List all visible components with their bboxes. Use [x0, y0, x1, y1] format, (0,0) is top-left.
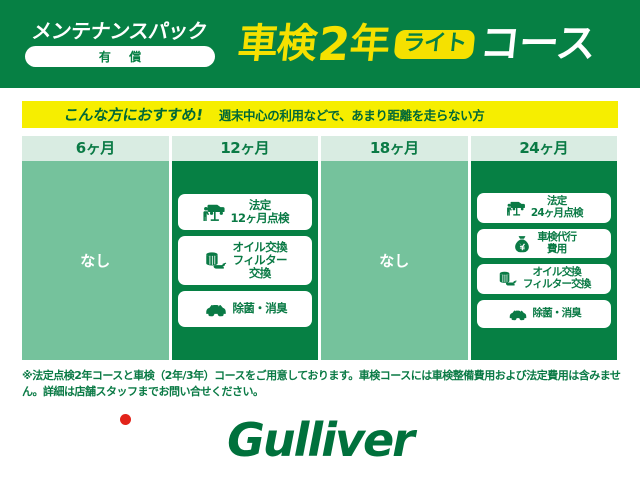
paid-badge: 有 償 [25, 46, 215, 67]
year-unit-label: 年 [348, 24, 391, 64]
recommendation-lead: こんな方におすすめ! [63, 104, 205, 125]
header-banner: メンテナンスパック 有 償 車検 2 年 ライト コース [0, 0, 640, 88]
column-header: 12ヶ月 [172, 136, 319, 161]
column-body: 法定 24ヶ月点検車検代行 費用オイル交換 フィルター交換除菌・消臭 [471, 161, 618, 360]
service-item-label: 車検代行 費用 [537, 232, 576, 256]
service-item-label: 法定 24ヶ月点検 [531, 196, 583, 220]
oil-filter-change-icon [497, 268, 519, 290]
none-label: なし [379, 250, 409, 271]
service-item-label: 除菌・消臭 [533, 308, 582, 320]
column-header-label: 18ヶ月 [370, 141, 419, 156]
car-lift-inspection-icon [505, 197, 527, 219]
column-header: 18ヶ月 [321, 136, 468, 161]
money-bag-yen-icon [511, 233, 533, 255]
light-badge: ライト [393, 30, 475, 59]
column-header-label: 6ヶ月 [76, 141, 115, 156]
logo-i-dot [120, 414, 131, 425]
column-header: 24ヶ月 [471, 136, 618, 161]
coverage-column-18ヶ月: 18ヶ月なし [321, 136, 468, 360]
service-item-label: オイル交換 フィルター 交換 [233, 241, 288, 280]
coverage-column-24ヶ月: 24ヶ月法定 24ヶ月点検車検代行 費用オイル交換 フィルター交換除菌・消臭 [471, 136, 618, 360]
service-item: オイル交換 フィルター 交換 [178, 236, 313, 285]
service-item: 車検代行 費用 [477, 229, 612, 259]
column-body: なし [321, 161, 468, 360]
service-item: 除菌・消臭 [477, 300, 612, 328]
header-right-group: 車検 2 年 ライト コース [238, 21, 640, 67]
service-item: 法定 12ヶ月点検 [178, 194, 313, 230]
maintenance-pack-infographic: メンテナンスパック 有 償 車検 2 年 ライト コース こんな方におすすめ! … [0, 0, 640, 480]
service-item: 法定 24ヶ月点検 [477, 193, 612, 223]
column-body: なし [22, 161, 169, 360]
none-label: なし [80, 250, 110, 271]
recommendation-bar: こんな方におすすめ! 週末中心の利用などで、あまり距離を走らない方 [22, 101, 618, 128]
coverage-column-12ヶ月: 12ヶ月法定 12ヶ月点検オイル交換 フィルター 交換除菌・消臭 [172, 136, 319, 360]
paid-badge-label: 有 償 [92, 51, 148, 63]
recommendation-description: 週末中心の利用などで、あまり距離を走らない方 [219, 105, 484, 124]
maintenance-pack-title: メンテナンスパック [31, 21, 209, 41]
service-item: 除菌・消臭 [178, 291, 313, 327]
service-item-label: 法定 12ヶ月点検 [231, 199, 289, 225]
car-sanitize-icon [203, 296, 229, 322]
years-number: 2 [316, 21, 351, 67]
coverage-column-6ヶ月: 6ヶ月なし [22, 136, 169, 360]
oil-filter-change-icon [203, 248, 229, 274]
column-body: 法定 12ヶ月点検オイル交換 フィルター 交換除菌・消臭 [172, 161, 319, 360]
car-sanitize-icon [507, 303, 529, 325]
service-item: オイル交換 フィルター交換 [477, 264, 612, 294]
car-lift-inspection-icon [201, 199, 227, 225]
coverage-table: 6ヶ月なし12ヶ月法定 12ヶ月点検オイル交換 フィルター 交換除菌・消臭18ヶ… [22, 136, 618, 360]
column-header: 6ヶ月 [22, 136, 169, 161]
service-item-label: オイル交換 フィルター交換 [523, 267, 591, 291]
course-label: コース [478, 24, 597, 64]
light-badge-label: ライト [402, 33, 467, 55]
brand-logo-text: Gulliver [227, 417, 413, 463]
brand-logo: Gulliver [0, 412, 640, 468]
service-item-label: 除菌・消臭 [233, 302, 288, 315]
header-left-group: メンテナンスパック 有 償 [4, 21, 236, 67]
footnote-text: ※法定点検2年コースと車検（2年/3年）コースをご用意しております。車検コースに… [22, 368, 622, 400]
shaken-label: 車検 [236, 24, 318, 64]
column-header-label: 12ヶ月 [220, 141, 269, 156]
column-header-label: 24ヶ月 [519, 141, 568, 156]
